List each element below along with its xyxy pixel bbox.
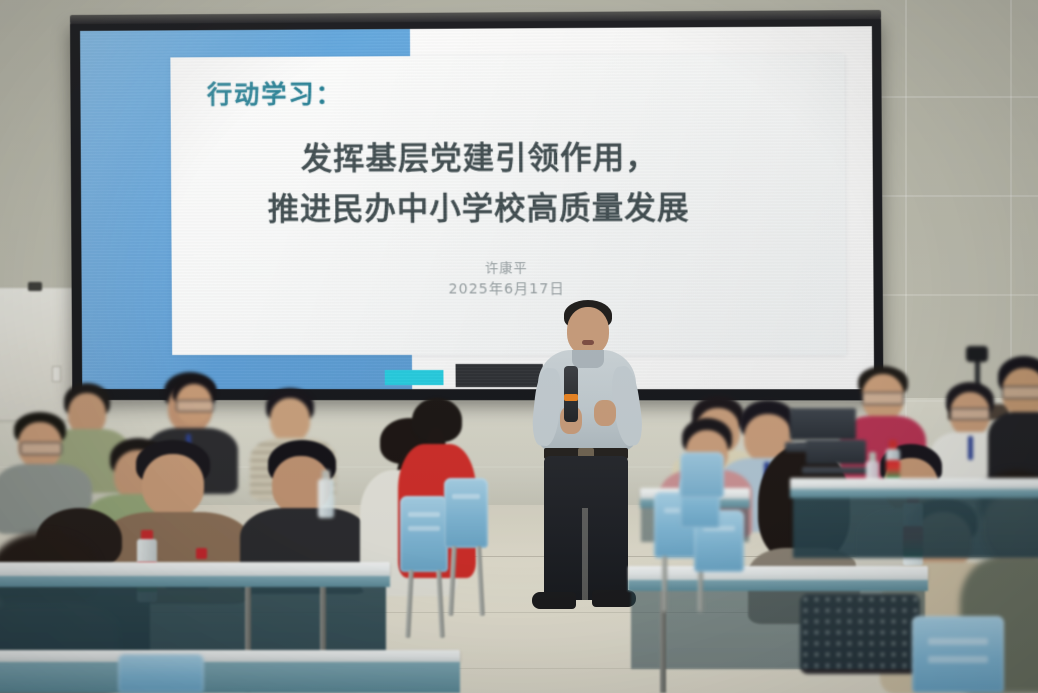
wall-grout-line (870, 195, 1038, 197)
glasses-icon (950, 408, 990, 420)
chair-back (118, 654, 204, 693)
bottle-body (318, 479, 334, 518)
glasses-icon (862, 392, 904, 405)
bottle-label (886, 460, 900, 479)
chair[interactable] (118, 654, 204, 693)
table-back-right (790, 478, 1038, 570)
chair-slot (928, 656, 988, 663)
table-mid-right (628, 566, 928, 693)
chair-slot (408, 526, 440, 531)
taskbar-cyan-indicator (384, 370, 443, 384)
whiteboard-clip-icon (28, 282, 42, 291)
chair-slot (452, 494, 480, 499)
laptop-screen (806, 440, 866, 464)
slide-title-line-1: 发挥基层党建引领作用， (301, 131, 658, 178)
glasses-icon (176, 400, 214, 412)
slide: 行动学习： 发挥基层党建引领作用， 推进民办中小学校高质量发展 许康平 2025… (80, 26, 874, 389)
presenter-collar (572, 350, 604, 368)
chair-back (444, 478, 488, 548)
table-edge (628, 580, 928, 591)
table-top (0, 562, 390, 576)
glasses-icon (20, 442, 62, 455)
wall-grout-line (870, 96, 1038, 98)
water-bottle[interactable] (318, 470, 334, 518)
head (142, 454, 204, 516)
laptop[interactable] (806, 440, 866, 474)
slide-byline: 许康平 2025年6月17日 (171, 258, 845, 301)
chair[interactable] (912, 616, 1004, 693)
presenter-head (567, 307, 609, 355)
table-foreground (0, 650, 460, 693)
table-edge (790, 489, 1038, 498)
table-top (628, 566, 928, 580)
slide-content-card: 行动学习： 发挥基层党建引领作用， 推进民办中小学校高质量发展 许康平 2025… (170, 54, 846, 355)
laptop-keyboard (802, 467, 870, 474)
presenter-mouth (582, 340, 594, 345)
slide-presenter-name: 许康平 (171, 258, 845, 279)
table-edge (0, 576, 390, 587)
table-edge (0, 662, 460, 693)
wall-grout-line (870, 294, 1038, 296)
chair[interactable] (400, 496, 448, 572)
chair-back (912, 616, 1004, 693)
table-top (0, 650, 460, 662)
glasses-icon (1002, 386, 1038, 399)
slide-title-line-2: 推进民办中小学校高质量发展 (268, 182, 690, 229)
chair-leg (662, 556, 667, 612)
table-top (790, 478, 1038, 489)
presenter-right-hand (594, 400, 616, 426)
head (270, 398, 310, 442)
slide-date: 2025年6月17日 (172, 279, 846, 302)
conference-room-photo: 行动学习： 发挥基层党建引领作用， 推进民办中小学校高质量发展 许康平 2025… (0, 0, 1038, 693)
chair-slot (408, 512, 440, 517)
chair[interactable] (444, 478, 488, 548)
presenter-left-shoe (532, 592, 576, 609)
table-modesty-panel (793, 498, 1038, 558)
attendee-black-shirt-right (988, 356, 1038, 486)
chair-back (680, 452, 724, 498)
chair-slot (928, 638, 988, 645)
slide-kicker-text: 行动学习： (207, 74, 343, 111)
party-emblem-icon (196, 548, 207, 559)
microphone[interactable] (564, 366, 578, 422)
presenter-trouser-gap (582, 508, 588, 600)
laptop-screen (790, 408, 856, 440)
table-modesty-panel (631, 591, 925, 669)
chair[interactable] (680, 452, 724, 498)
lanyard (968, 436, 973, 460)
wall-socket-icon (52, 366, 61, 382)
projection-screen[interactable]: 行动学习： 发挥基层党建引领作用， 推进民办中小学校高质量发展 许康平 2025… (70, 17, 883, 400)
chair-back (400, 496, 448, 572)
screen-surface: 行动学习： 发挥基层党建引领作用， 推进民办中小学校高质量发展 许康平 2025… (80, 26, 874, 389)
microphone-head-icon (966, 346, 988, 362)
microphone-ring (564, 394, 578, 401)
